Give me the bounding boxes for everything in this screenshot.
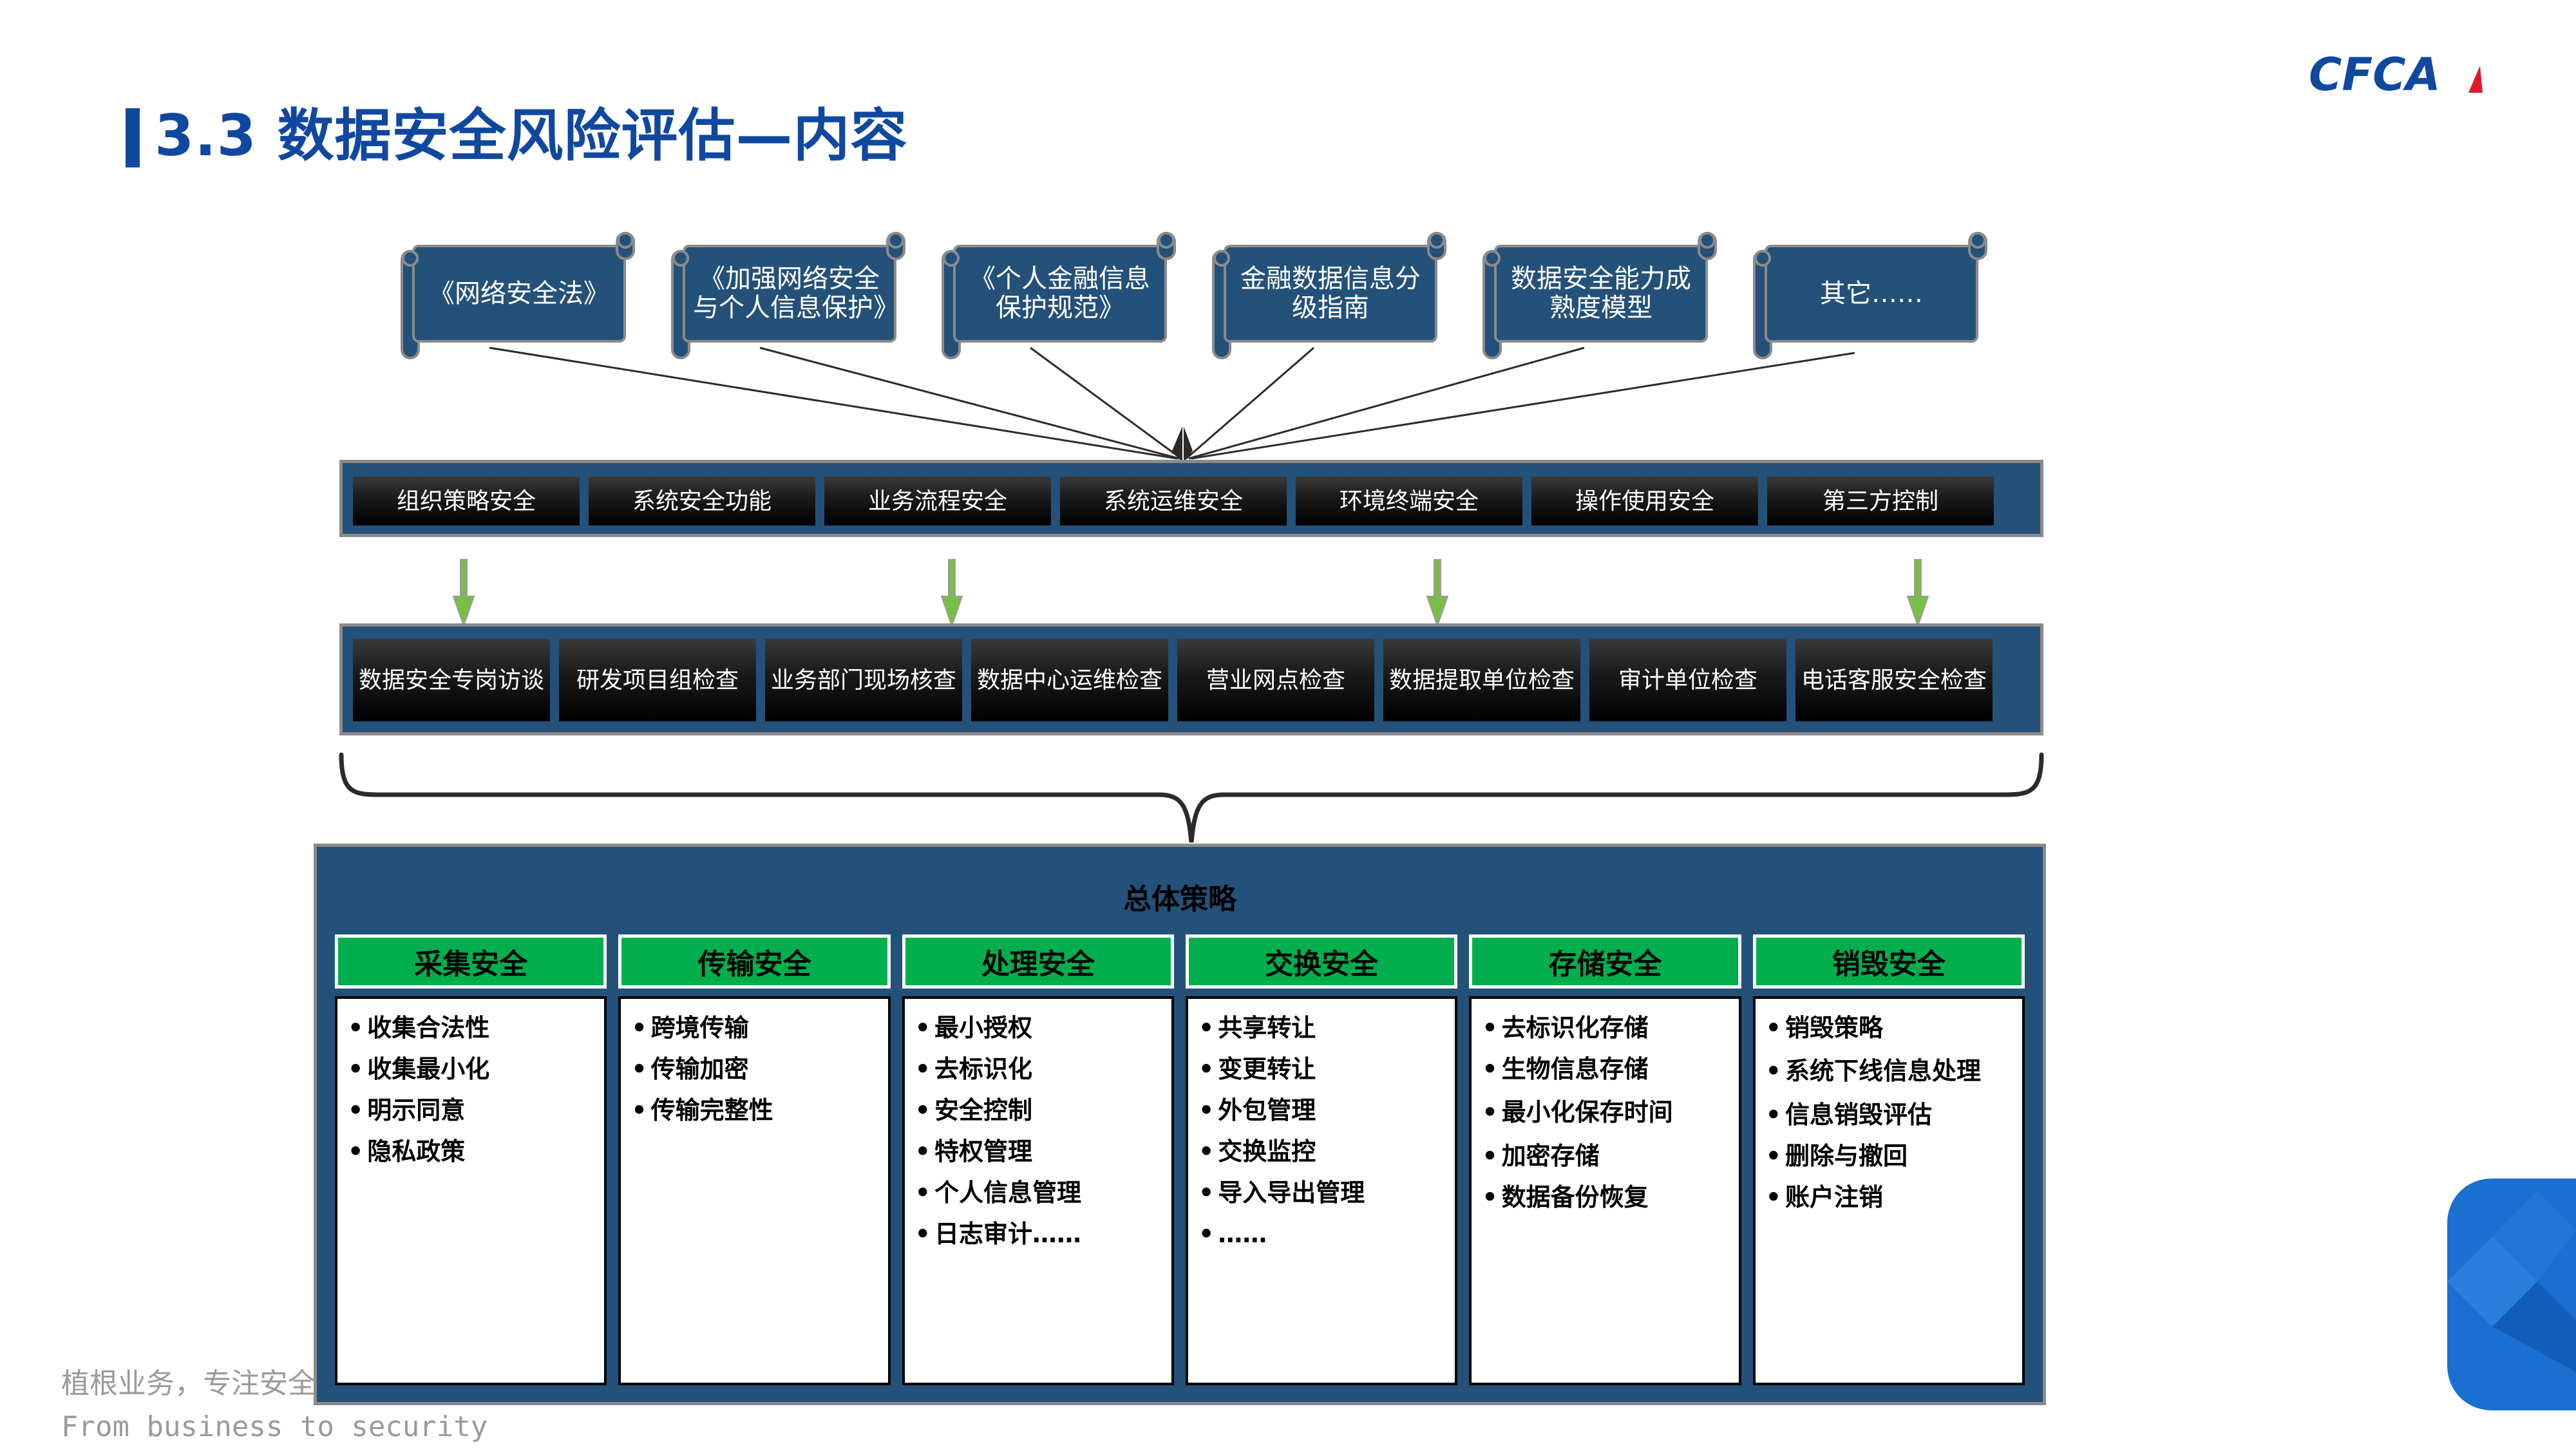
- strategy-list-item: 收集合法性: [348, 1016, 598, 1040]
- strategy-list-item: 系统下线信息处理: [1766, 1057, 2016, 1086]
- strategy-list-item: 个人信息管理: [915, 1180, 1165, 1205]
- strategy-title: 总体策略: [317, 876, 2043, 917]
- footer-tagline-cn: 植根业务，专注安全: [61, 1360, 316, 1401]
- strategy-list-item: 最小授权: [915, 1016, 1165, 1040]
- strategy-list-item: 去标识化: [915, 1057, 1165, 1081]
- cfca-logo: CFCA: [2309, 50, 2502, 100]
- document-label-text: 其它……: [1775, 279, 1968, 308]
- strategy-list-item: 交换监控: [1198, 1139, 1448, 1164]
- strategy-items-transmission: 跨境传输 传输加密 传输完整性: [618, 996, 890, 1385]
- strategy-list-item: 传输加密: [631, 1057, 881, 1081]
- decorative-hexagon: [2409, 1153, 2576, 1436]
- category-cell-5[interactable]: 操作使用安全: [1531, 477, 1758, 526]
- method-cell-6[interactable]: 审计单位检查: [1589, 639, 1786, 721]
- strategy-header-exchange[interactable]: 交换安全: [1186, 934, 1457, 989]
- document-label: 金融数据信息分级指南: [1224, 245, 1437, 343]
- strategy-list-item: 共享转让: [1198, 1016, 1448, 1040]
- document-label: 其它……: [1765, 245, 1978, 343]
- document-label-text: 金融数据信息分级指南: [1234, 265, 1427, 323]
- method-cell-7[interactable]: 电话客服安全检查: [1795, 639, 1993, 721]
- document-label-text: 数据安全能力成熟度模型: [1504, 265, 1698, 323]
- svg-text:CFCA: CFCA: [2309, 50, 2441, 100]
- method-cell-2[interactable]: 业务部门现场核查: [765, 639, 962, 721]
- category-cell-1[interactable]: 系统安全功能: [589, 477, 815, 526]
- flow-arrow-2: [1425, 559, 1450, 627]
- strategy-list-item: ……: [1198, 1222, 1448, 1246]
- strategy-list-item: 跨境传输: [631, 1016, 881, 1040]
- strategy-list-item: 账户注销: [1766, 1185, 2016, 1209]
- strategy-list-item: 隐私政策: [348, 1139, 598, 1164]
- method-band-items: 数据安全专岗访谈 研发项目组检查 业务部门现场核查 数据中心运维检查 营业网点检…: [353, 639, 1993, 721]
- strategy-list-item: 明示同意: [348, 1098, 598, 1122]
- method-cell-5[interactable]: 数据提取单位检查: [1383, 639, 1580, 721]
- strategy-column-exchange: 交换安全 共享转让 变更转让 外包管理 交换监控 导入导出管理 ……: [1186, 934, 1457, 1385]
- strategy-column-transmission: 传输安全 跨境传输 传输加密 传输完整性: [618, 934, 890, 1385]
- document-label: 《加强网络安全与个人信息保护》: [683, 245, 896, 343]
- category-band-items: 组织策略安全 系统安全功能 业务流程安全 系统运维安全 环境终端安全 操作使用安…: [353, 477, 1994, 526]
- strategy-column-collection: 采集安全 收集合法性 收集最小化 明示同意 隐私政策: [335, 934, 607, 1385]
- category-cell-4[interactable]: 环境终端安全: [1296, 477, 1522, 526]
- strategy-list-item: 导入导出管理: [1198, 1180, 1448, 1205]
- strategy-items-destruction: 销毁策略 系统下线信息处理 信息销毁评估 删除与撤回 账户注销: [1753, 996, 2025, 1385]
- document-scroll-5[interactable]: 其它……: [1753, 236, 1985, 352]
- strategy-list-item: 变更转让: [1198, 1057, 1448, 1081]
- strategy-list-item: 信息销毁评估: [1766, 1103, 2016, 1127]
- footer-tagline-en: From business to security: [61, 1410, 488, 1443]
- strategy-panel: 总体策略 采集安全 收集合法性 收集最小化 明示同意 隐私政策 传输安全 跨境传…: [314, 844, 2046, 1405]
- strategy-items-exchange: 共享转让 变更转让 外包管理 交换监控 导入导出管理 ……: [1186, 996, 1457, 1385]
- header-bar: 3.3 数据安全风险评估—内容 CFCA: [0, 0, 2576, 193]
- strategy-items-storage: 去标识化存储 生物信息存储 最小化保存时间 加密存储 数据备份恢复: [1469, 996, 1741, 1385]
- strategy-list-item: 生物信息存储: [1482, 1057, 1732, 1081]
- strategy-list-item: 删除与撤回: [1766, 1144, 2016, 1168]
- summary-brace: [335, 748, 2048, 845]
- strategy-header-storage[interactable]: 存储安全: [1469, 934, 1741, 989]
- strategy-header-transmission[interactable]: 传输安全: [618, 934, 890, 989]
- strategy-list-item: 安全控制: [915, 1098, 1165, 1122]
- document-label-text: 《网络安全法》: [422, 279, 616, 308]
- strategy-items-processing: 最小授权 去标识化 安全控制 特权管理 个人信息管理 日志审计……: [902, 996, 1174, 1385]
- strategy-list-item: 传输完整性: [631, 1098, 881, 1122]
- document-label-text: 《加强网络安全与个人信息保护》: [693, 265, 886, 323]
- strategy-header-collection[interactable]: 采集安全: [335, 934, 607, 989]
- strategy-list-item: 收集最小化: [348, 1057, 598, 1081]
- document-label: 《网络安全法》: [412, 245, 626, 343]
- document-label: 《个人金融信息保护规范》: [953, 245, 1167, 343]
- method-cell-0[interactable]: 数据安全专岗访谈: [353, 639, 550, 721]
- document-scroll-3[interactable]: 金融数据信息分级指南: [1212, 236, 1444, 352]
- method-cell-4[interactable]: 营业网点检查: [1177, 639, 1374, 721]
- document-scroll-1[interactable]: 《加强网络安全与个人信息保护》: [671, 236, 903, 352]
- method-cell-3[interactable]: 数据中心运维检查: [971, 639, 1168, 721]
- strategy-list-item: 去标识化存储: [1482, 1016, 1732, 1040]
- strategy-list-item: 特权管理: [915, 1139, 1165, 1164]
- strategy-list-item: 销毁策略: [1766, 1016, 2016, 1040]
- flow-arrow-1: [939, 559, 965, 627]
- strategy-column-processing: 处理安全 最小授权 去标识化 安全控制 特权管理 个人信息管理 日志审计……: [902, 934, 1174, 1385]
- strategy-list-item: 最小化保存时间: [1482, 1098, 1732, 1127]
- document-label-text: 《个人金融信息保护规范》: [963, 265, 1157, 323]
- category-cell-2[interactable]: 业务流程安全: [824, 477, 1051, 526]
- page-title: 3.3 数据安全风险评估—内容: [155, 90, 908, 172]
- strategy-list-item: 外包管理: [1198, 1098, 1448, 1122]
- strategy-column-destruction: 销毁安全 销毁策略 系统下线信息处理 信息销毁评估 删除与撤回 账户注销: [1753, 934, 2025, 1385]
- document-scroll-2[interactable]: 《个人金融信息保护规范》: [942, 236, 1173, 352]
- strategy-items-collection: 收集合法性 收集最小化 明示同意 隐私政策: [335, 996, 607, 1385]
- strategy-list-item: 数据备份恢复: [1482, 1185, 1732, 1209]
- document-scroll-0[interactable]: 《网络安全法》: [401, 236, 632, 352]
- strategy-list-item: 加密存储: [1482, 1144, 1732, 1168]
- strategy-column-storage: 存储安全 去标识化存储 生物信息存储 最小化保存时间 加密存储 数据备份恢复: [1469, 934, 1741, 1385]
- flow-arrow-0: [451, 559, 477, 627]
- flow-arrow-3: [1905, 559, 1931, 627]
- method-cell-1[interactable]: 研发项目组检查: [559, 639, 756, 721]
- category-cell-6[interactable]: 第三方控制: [1767, 477, 1994, 526]
- cfca-logo-svg: CFCA: [2309, 50, 2502, 100]
- strategy-columns: 采集安全 收集合法性 收集最小化 明示同意 隐私政策 传输安全 跨境传输 传输加…: [335, 934, 2025, 1385]
- strategy-header-processing[interactable]: 处理安全: [902, 934, 1174, 989]
- strategy-header-destruction[interactable]: 销毁安全: [1753, 934, 2025, 989]
- category-cell-0[interactable]: 组织策略安全: [353, 477, 580, 526]
- document-scroll-4[interactable]: 数据安全能力成熟度模型: [1482, 236, 1714, 352]
- strategy-list-item: 日志审计……: [915, 1222, 1165, 1246]
- title-accent-bar: [126, 108, 140, 167]
- category-cell-3[interactable]: 系统运维安全: [1060, 477, 1287, 526]
- document-label: 数据安全能力成熟度模型: [1494, 245, 1708, 343]
